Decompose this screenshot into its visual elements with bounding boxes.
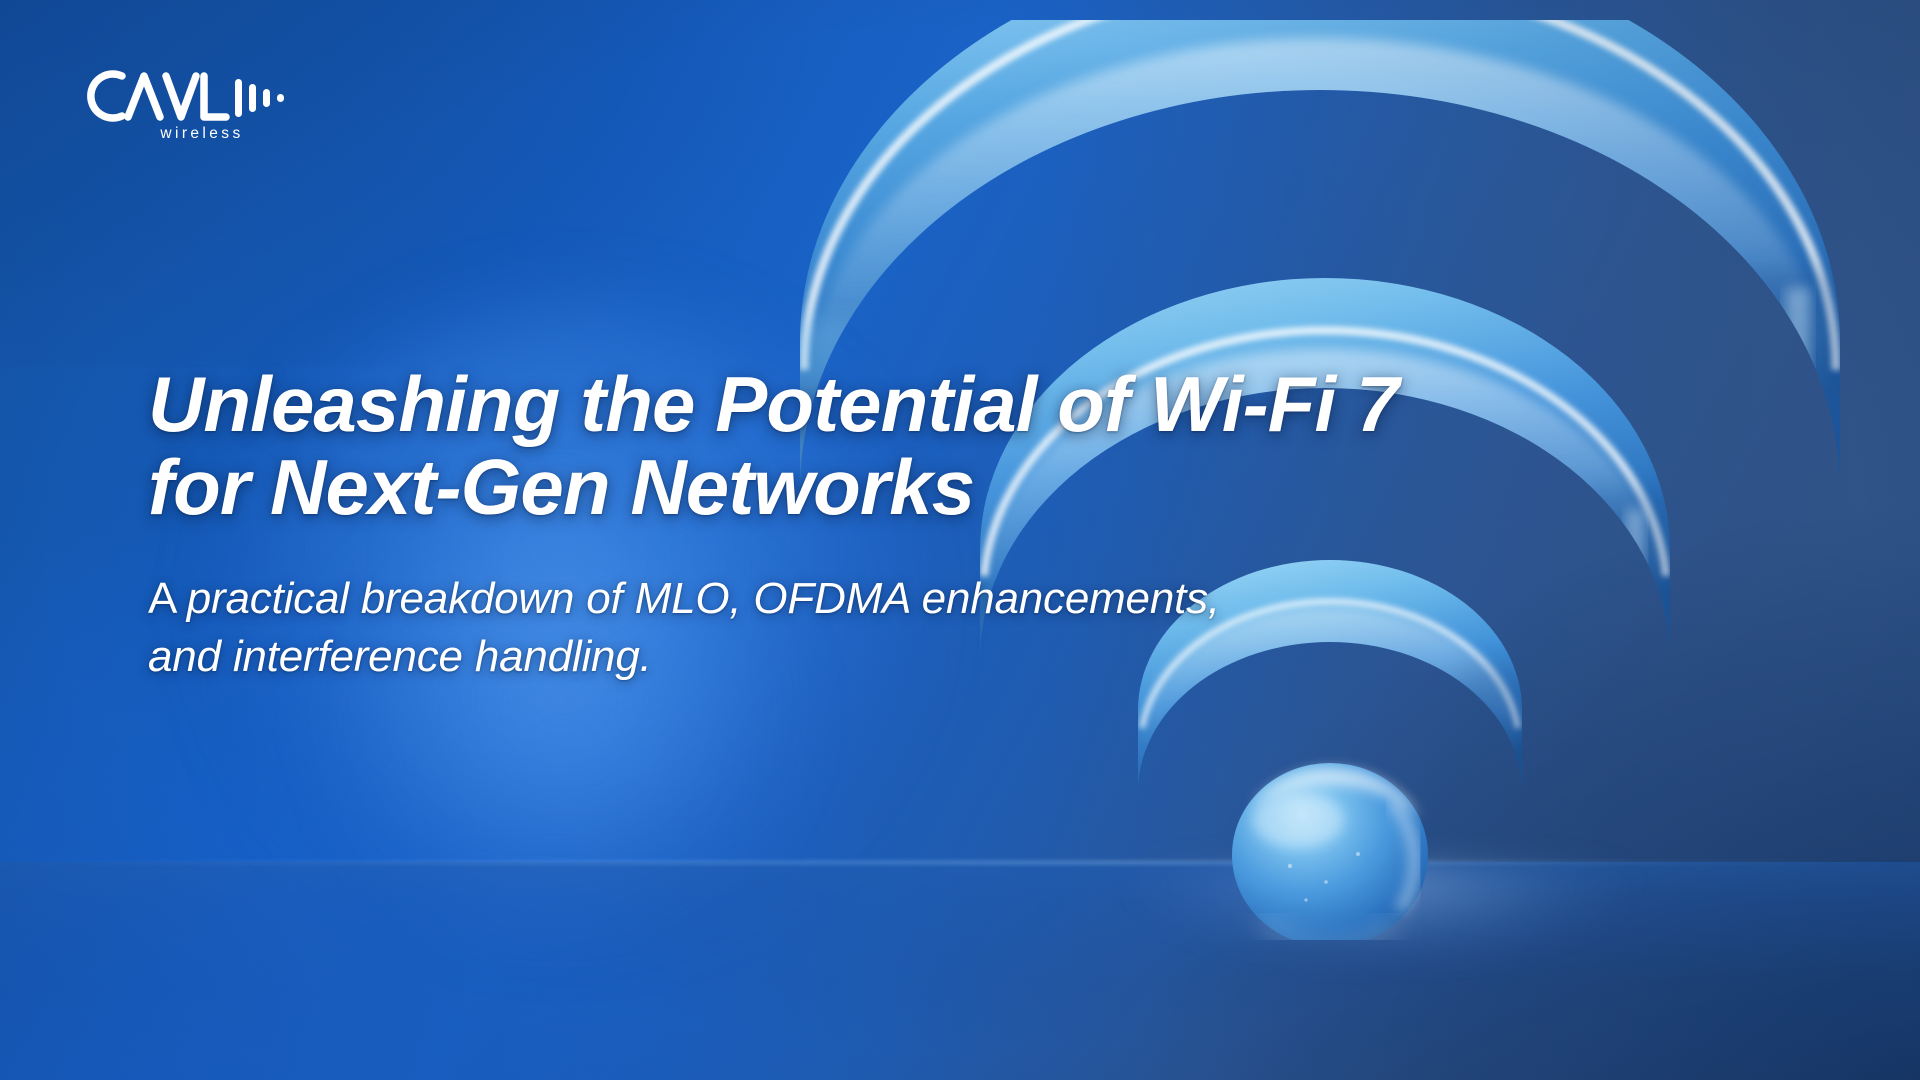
wifi7-hero-banner: wireless Unleashing the Potential of Wi-… bbox=[0, 0, 1920, 1080]
headline-line-1: Unleashing the Potential of Wi-Fi 7 bbox=[148, 360, 1399, 448]
hero-copy: Unleashing the Potential of Wi-Fi 7for N… bbox=[148, 363, 1768, 685]
background-top-left-wash bbox=[0, 0, 806, 367]
logo-signal-bars-icon bbox=[235, 79, 284, 117]
cavli-wireless-logo[interactable]: wireless bbox=[80, 62, 310, 146]
headline-line-2: for Next-Gen Networks bbox=[148, 443, 974, 531]
logo-tagline: wireless bbox=[159, 125, 243, 142]
page-title: Unleashing the Potential of Wi-Fi 7for N… bbox=[148, 363, 1768, 528]
subhead-line-2: and interference handling. bbox=[148, 632, 652, 681]
subhead-lead: A bbox=[148, 574, 187, 623]
logo-wordmark-icon bbox=[91, 74, 226, 118]
page-subtitle: A practical breakdown of MLO, OFDMA enha… bbox=[148, 570, 1768, 684]
wifi-dot bbox=[1232, 763, 1428, 940]
subhead-line-1: practical breakdown of MLO, OFDMA enhanc… bbox=[187, 574, 1220, 623]
